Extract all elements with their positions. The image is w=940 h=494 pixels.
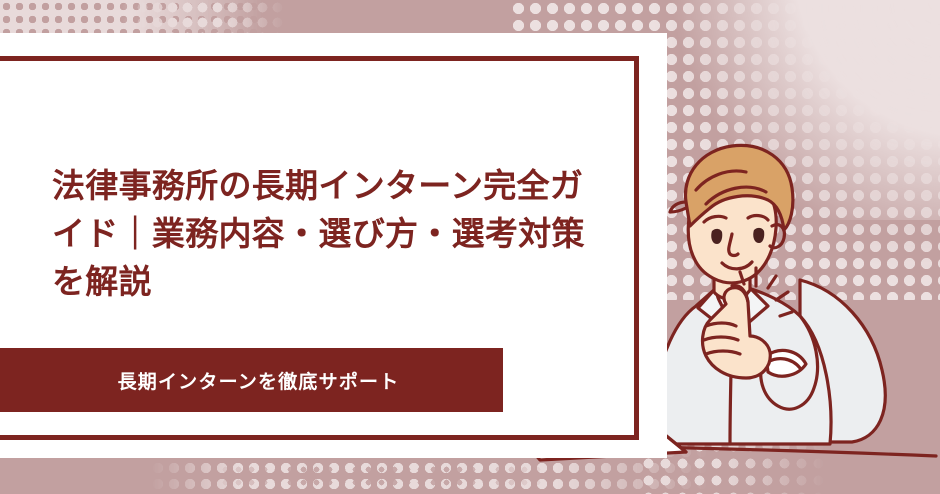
- page-title: 法律事務所の長期インターン完全ガ イド｜業務内容・選び方・選考対策 を解説: [52, 162, 617, 307]
- support-ribbon-label: 長期インターンを徹底サポート: [104, 367, 400, 394]
- hero-banner: 法律事務所の長期インターン完全ガ イド｜業務内容・選び方・選考対策 を解説 長期…: [0, 0, 940, 494]
- support-ribbon: 長期インターンを徹底サポート: [0, 348, 503, 412]
